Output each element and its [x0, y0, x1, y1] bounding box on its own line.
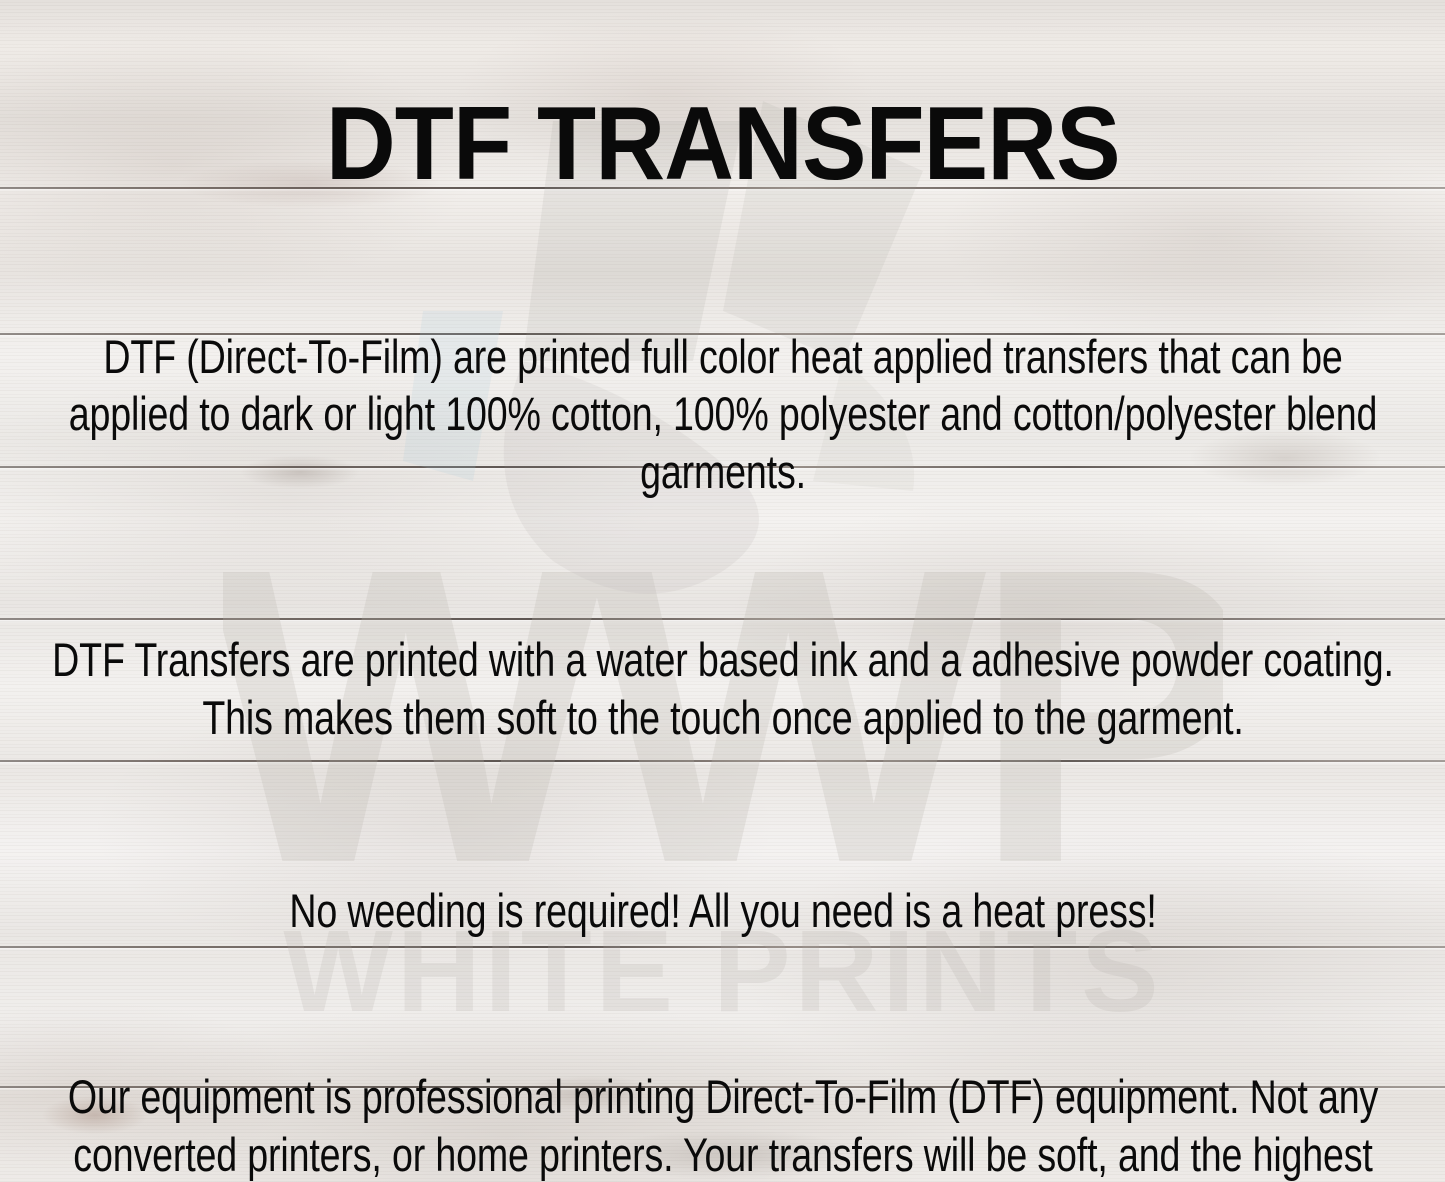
page-title: DTF TRANSFERS	[326, 92, 1120, 196]
paragraph-no-weeding: No weeding is required! All you need is …	[43, 882, 1403, 940]
dtf-transfers-info-graphic: WWP WHITE PRINTS DTF TRANSFERS DTF (Dire…	[0, 0, 1445, 1182]
paragraph-equipment: Our equipment is professional printing D…	[43, 1068, 1403, 1182]
content-stack: DTF TRANSFERS DTF (Direct-To-Film) are p…	[0, 0, 1445, 1182]
paragraph-ink-and-powder: DTF Transfers are printed with a water b…	[43, 631, 1403, 747]
paragraph-description: DTF (Direct-To-Film) are printed full co…	[43, 328, 1403, 501]
